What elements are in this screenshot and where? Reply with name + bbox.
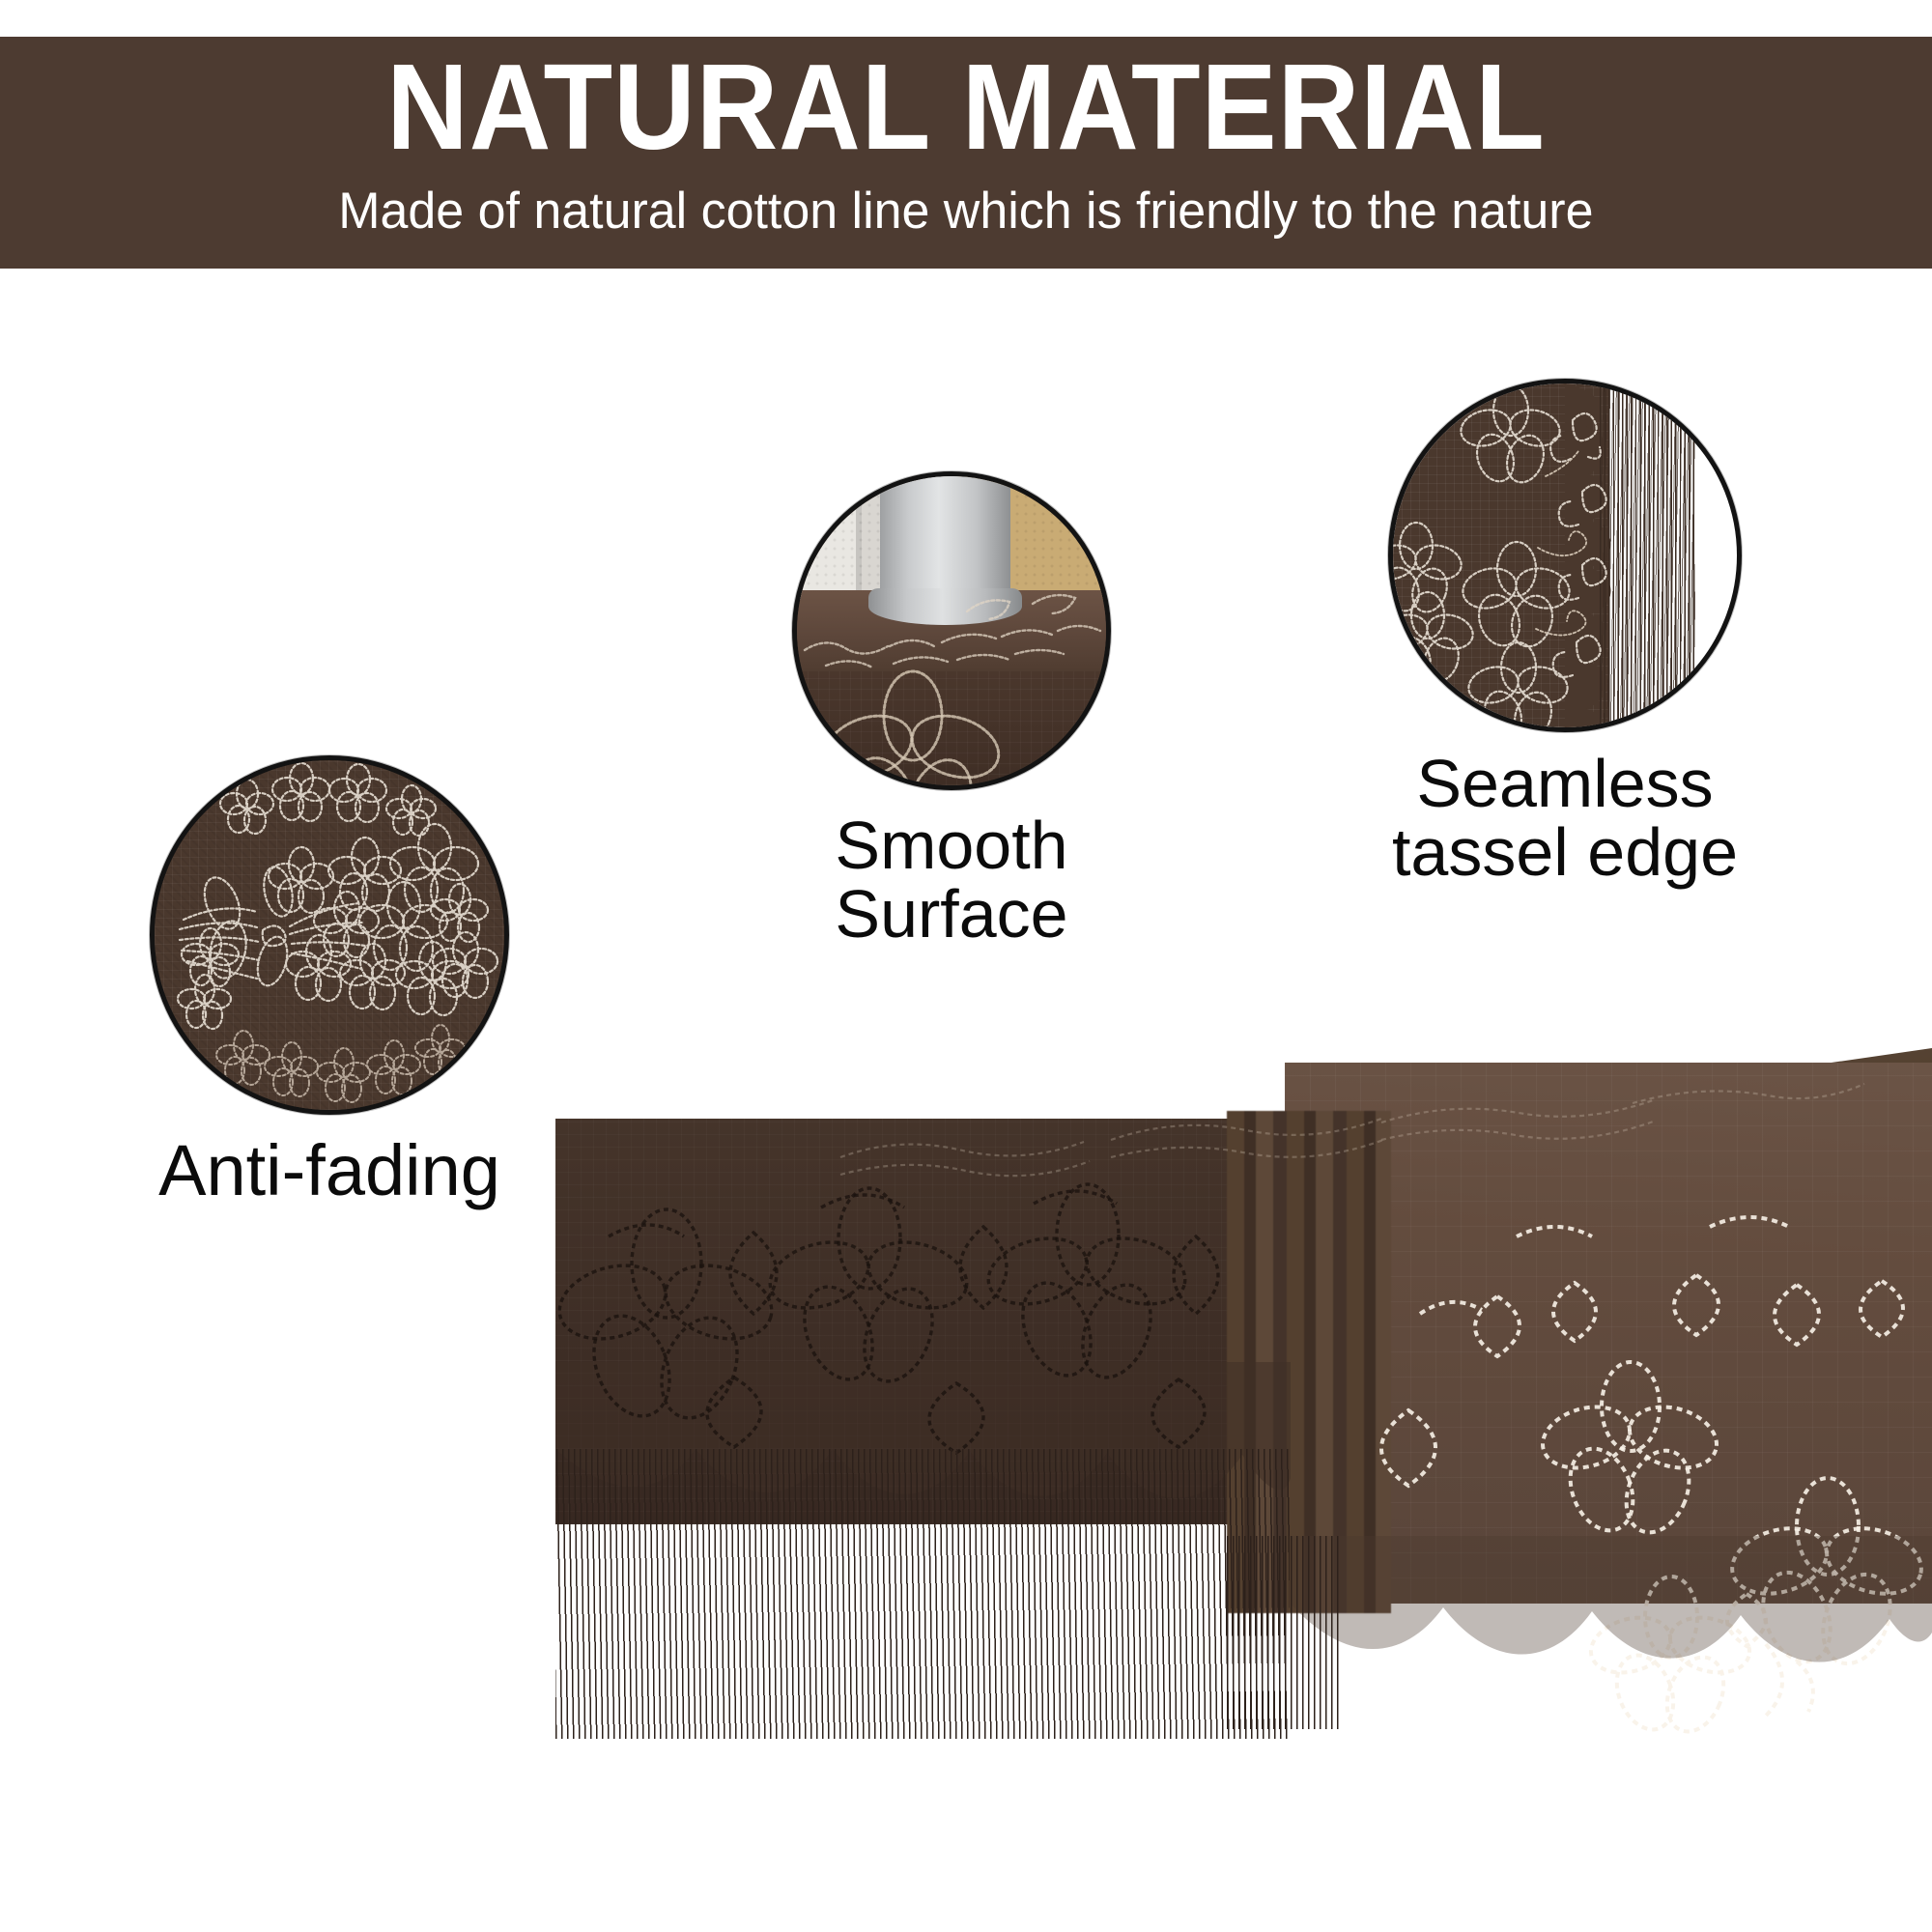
fabric-texture — [155, 760, 504, 1110]
fringe-tassels-corner — [1227, 1536, 1343, 1729]
feature-label-anti-fading: Anti-fading — [150, 1134, 509, 1207]
product-feature-graphic: NATURAL MATERIAL Made of natural cotton … — [0, 0, 1932, 1932]
feature-callout-anti-fading: Anti-fading — [150, 755, 509, 1115]
feature-callout-tassel-edge: Seamless tassel edge — [1388, 379, 1742, 732]
tablecloth-front-drop — [797, 671, 1106, 785]
banner-title: NATURAL MATERIAL — [386, 41, 1546, 175]
feature-label-tassel-edge: Seamless tassel edge — [1388, 750, 1742, 888]
feature-label-smooth-surface: Smooth Surface — [792, 811, 1111, 950]
anti-fading-closeup-bubble — [150, 755, 509, 1115]
feature-callout-smooth-surface: Smooth Surface — [792, 471, 1111, 790]
fringe-tassels-front — [555, 1449, 1290, 1739]
header-banner: NATURAL MATERIAL Made of natural cotton … — [0, 37, 1932, 269]
right-hem-scallop — [1291, 1536, 1932, 1662]
mug-icon — [880, 471, 1009, 612]
banner-subtitle: Made of natural cotton line which is fri… — [338, 185, 1593, 239]
tassel-edge-closeup-bubble — [1388, 379, 1742, 732]
product-photo-tablecloth — [551, 995, 1932, 1932]
fringe-tassels — [1600, 384, 1696, 727]
smooth-surface-closeup-bubble — [792, 471, 1111, 790]
